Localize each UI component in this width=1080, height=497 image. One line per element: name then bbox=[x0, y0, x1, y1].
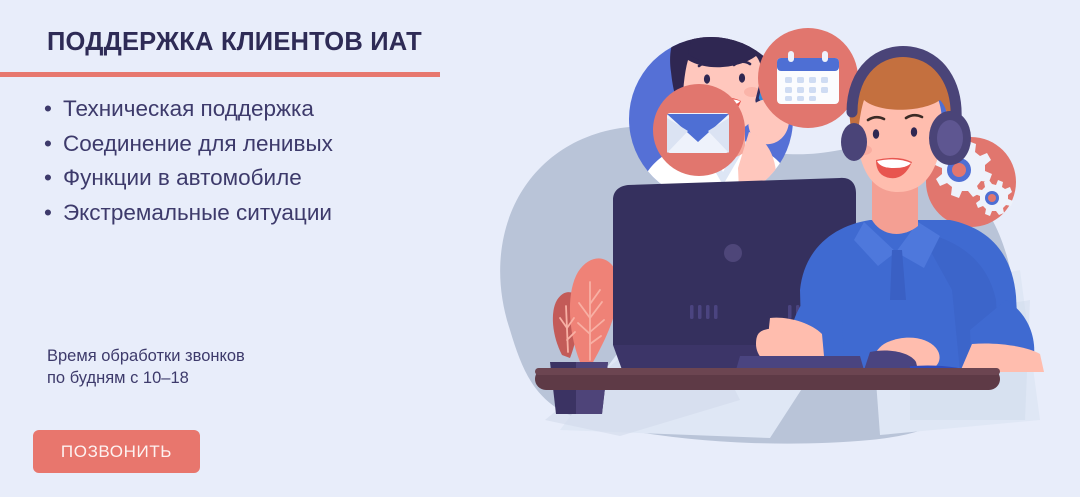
desk-surface-highlight bbox=[535, 368, 1000, 375]
avatar-hair-fringe bbox=[688, 22, 757, 64]
agent-eye-right bbox=[911, 127, 917, 137]
headset-earcup-right-inner bbox=[937, 120, 963, 156]
list-item-label: Функции в автомобиле bbox=[63, 165, 302, 190]
headset-earcup-left bbox=[841, 123, 867, 161]
list-item-label: Техническая поддержка bbox=[63, 96, 314, 121]
avatar-eye-left bbox=[704, 74, 710, 83]
list-item: • Соединение для ленивых bbox=[41, 127, 471, 162]
calendar-header bbox=[777, 58, 839, 71]
calendar-ring-right bbox=[822, 51, 828, 62]
avatar-eye-right bbox=[739, 73, 745, 82]
text-column: ПОДДЕРЖКА КЛИЕНТОВ ИАТ • Техническая под… bbox=[0, 0, 470, 497]
agent-eye-left bbox=[873, 129, 879, 139]
list-item: • Техническая поддержка bbox=[41, 92, 471, 127]
bullet-icon: • bbox=[44, 196, 52, 231]
working-hours-line1: Время обработки звонков bbox=[47, 347, 245, 365]
list-item: • Функции в автомобиле bbox=[41, 161, 471, 196]
list-item-label: Соединение для ленивых bbox=[63, 131, 333, 156]
title-divider bbox=[0, 72, 440, 77]
calendar-ring-left bbox=[788, 51, 794, 62]
bullet-icon: • bbox=[44, 92, 52, 127]
envelope-group bbox=[653, 84, 745, 176]
keyboard bbox=[736, 356, 864, 370]
bullet-icon: • bbox=[44, 161, 52, 196]
call-button[interactable]: ПОЗВОНИТЬ bbox=[33, 430, 200, 473]
support-banner: ПОДДЕРЖКА КЛИЕНТОВ ИАТ • Техническая под… bbox=[0, 0, 1080, 497]
calendar-icon bbox=[758, 28, 858, 128]
monitor-camera bbox=[724, 244, 742, 262]
feature-list: • Техническая поддержка • Соединение для… bbox=[41, 92, 471, 230]
list-item: • Экстремальные ситуации bbox=[41, 196, 471, 231]
working-hours: Время обработки звонков по будням с 10–1… bbox=[47, 345, 447, 389]
page-title: ПОДДЕРЖКА КЛИЕНТОВ ИАТ bbox=[47, 28, 467, 56]
envelope-icon bbox=[653, 84, 745, 176]
support-illustration: SOS bbox=[440, 0, 1080, 497]
bullet-icon: • bbox=[44, 127, 52, 162]
list-item-label: Экстремальные ситуации bbox=[63, 200, 332, 225]
working-hours-line2: по будням с 10–18 bbox=[47, 367, 447, 389]
